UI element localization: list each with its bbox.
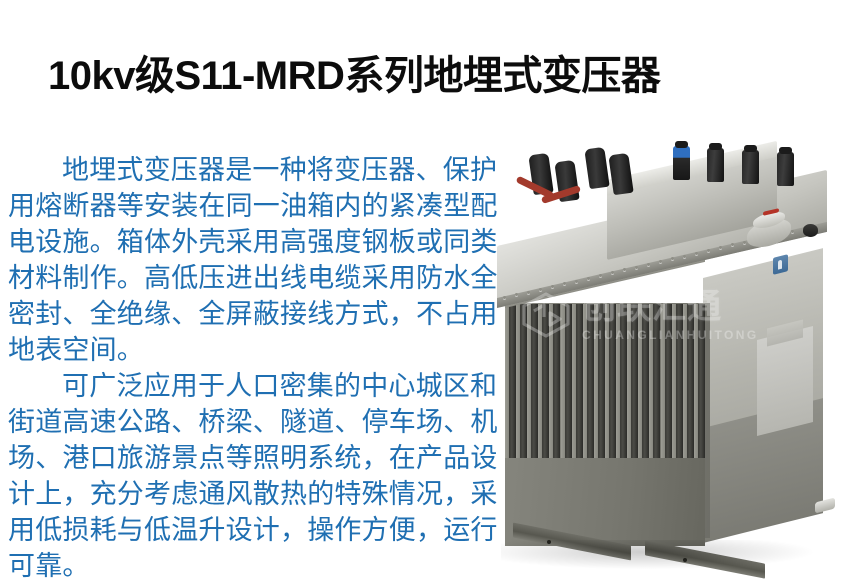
cooling-fin (565, 304, 572, 462)
flange-bolt (635, 266, 638, 269)
cooling-fin (509, 304, 516, 462)
flange-bolt (599, 274, 602, 277)
lv-bushing (742, 150, 759, 184)
lv-bushing-capped (673, 146, 690, 180)
cooling-fin (676, 304, 683, 462)
flange-bolt (683, 255, 686, 258)
cooling-fin (553, 304, 560, 462)
lv-bushing (707, 148, 724, 182)
cooling-fin (642, 304, 649, 462)
deck-knob (803, 224, 818, 237)
cooling-fin (520, 304, 527, 462)
cooling-fin (653, 304, 660, 462)
product-photo (495, 128, 850, 568)
flange-bolt (707, 249, 710, 252)
cooling-fin (542, 304, 549, 462)
cooling-fins (505, 304, 705, 462)
hv-bushing (608, 153, 633, 195)
flange-bolt (743, 241, 746, 244)
cooling-fin (665, 304, 672, 462)
flange-bolt (647, 263, 650, 266)
lv-bushing (777, 152, 794, 186)
flange-bolt (539, 288, 542, 291)
ground-shadow (501, 540, 821, 570)
flange-bolt (695, 252, 698, 255)
cooling-fin (587, 304, 594, 462)
flange-bolt (527, 291, 530, 294)
flange-bolt (575, 280, 578, 283)
cooling-fin (698, 304, 705, 462)
cooling-fin (598, 304, 605, 462)
flange-bolt (791, 230, 794, 233)
cooling-fin (576, 304, 583, 462)
page-title: 10kv级S11-MRD系列地埋式变压器 (48, 48, 768, 104)
description-paragraph-2: 可广泛应用于人口密集的中心城区和街道高速公路、桥梁、隧道、停车场、机场、港口旅游… (8, 368, 508, 582)
cooling-fin (687, 304, 694, 462)
cooling-fin (620, 304, 627, 462)
cooling-fin (631, 304, 638, 462)
cooling-fin (531, 304, 538, 462)
product-detail-image: 10kv级S11-MRD系列地埋式变压器 地埋式变压器是一种将变压器、保护用熔断… (0, 0, 850, 582)
description-text: 地埋式变压器是一种将变压器、保护用熔断器等安装在同一油箱内的紧凑型配电设施。箱体… (8, 152, 508, 582)
side-access-panel (757, 326, 813, 436)
hv-bushing (584, 147, 609, 189)
description-paragraph-1: 地埋式变压器是一种将变压器、保护用熔断器等安装在同一油箱内的紧凑型配电设施。箱体… (8, 152, 508, 368)
flange-bolt (587, 277, 590, 280)
cooling-fin (609, 304, 616, 462)
